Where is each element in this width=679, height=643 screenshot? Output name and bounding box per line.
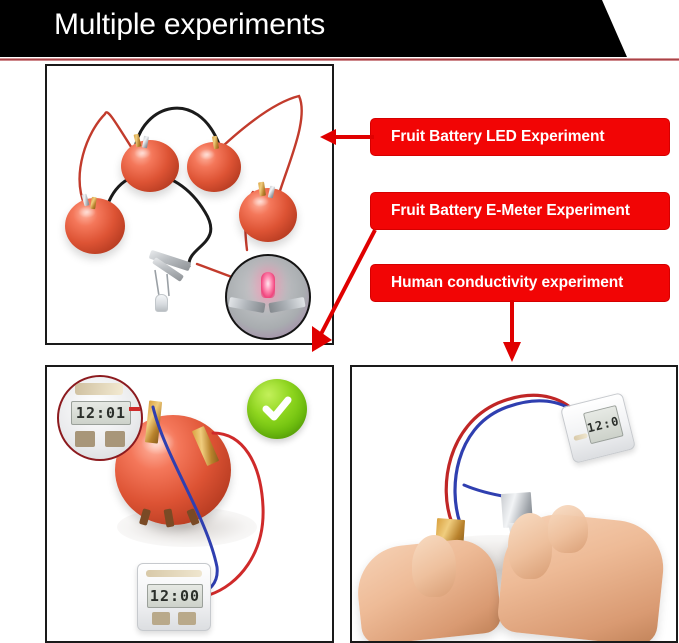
panel-emeter-experiment: 12:00 12:01 [45, 365, 334, 643]
inset-clip-right [268, 297, 305, 313]
led-bulb [155, 294, 168, 312]
inset-clip-left [228, 297, 265, 313]
glowing-led-icon [261, 272, 275, 298]
inset-clock-hanger [75, 383, 123, 395]
clock-button-right[interactable] [178, 612, 196, 625]
panel-led-experiment [45, 64, 334, 345]
tomato-2 [187, 142, 241, 192]
label-human-conductivity[interactable]: Human conductivity experiment [370, 264, 670, 302]
inset-clock-button-right [105, 431, 125, 447]
clock-hanger [146, 570, 202, 577]
label-fruit-battery-emeter[interactable]: Fruit Battery E-Meter Experiment [370, 192, 670, 230]
clock-button-left[interactable] [152, 612, 170, 625]
clock-module: 12:00 [137, 563, 211, 631]
panel-human-conductivity: 12:0 [350, 365, 678, 643]
label-fruit-battery-led[interactable]: Fruit Battery LED Experiment [370, 118, 670, 156]
green-check-badge [247, 379, 307, 439]
inset-clock-lcd: 12:01 [71, 401, 131, 425]
infographic-page: Multiple experiments [0, 0, 679, 643]
inset-lit-led [225, 254, 311, 340]
tomato-1 [121, 140, 179, 192]
inset-clock-button-left [75, 431, 95, 447]
header-divider [0, 58, 679, 61]
page-title: Multiple experiments [54, 8, 325, 42]
photo-human-conductivity: 12:0 [352, 367, 676, 641]
photo-led-experiment [47, 66, 332, 343]
check-icon [259, 391, 295, 427]
clock-lcd-display-human: 12:0 [583, 405, 624, 444]
hand-left-thumb [412, 535, 456, 597]
clock-hanger-human [573, 433, 588, 441]
clock-lcd-display: 12:00 [147, 584, 203, 608]
led-leads [143, 262, 203, 322]
hand-right-thumb [508, 513, 552, 579]
photo-emeter-experiment: 12:00 12:01 [47, 367, 332, 641]
inset-clock-closeup: 12:01 [57, 375, 143, 461]
inset-wire-red [129, 407, 143, 411]
arrow-to-human-panel [500, 300, 524, 366]
hand-right-index [548, 505, 588, 553]
